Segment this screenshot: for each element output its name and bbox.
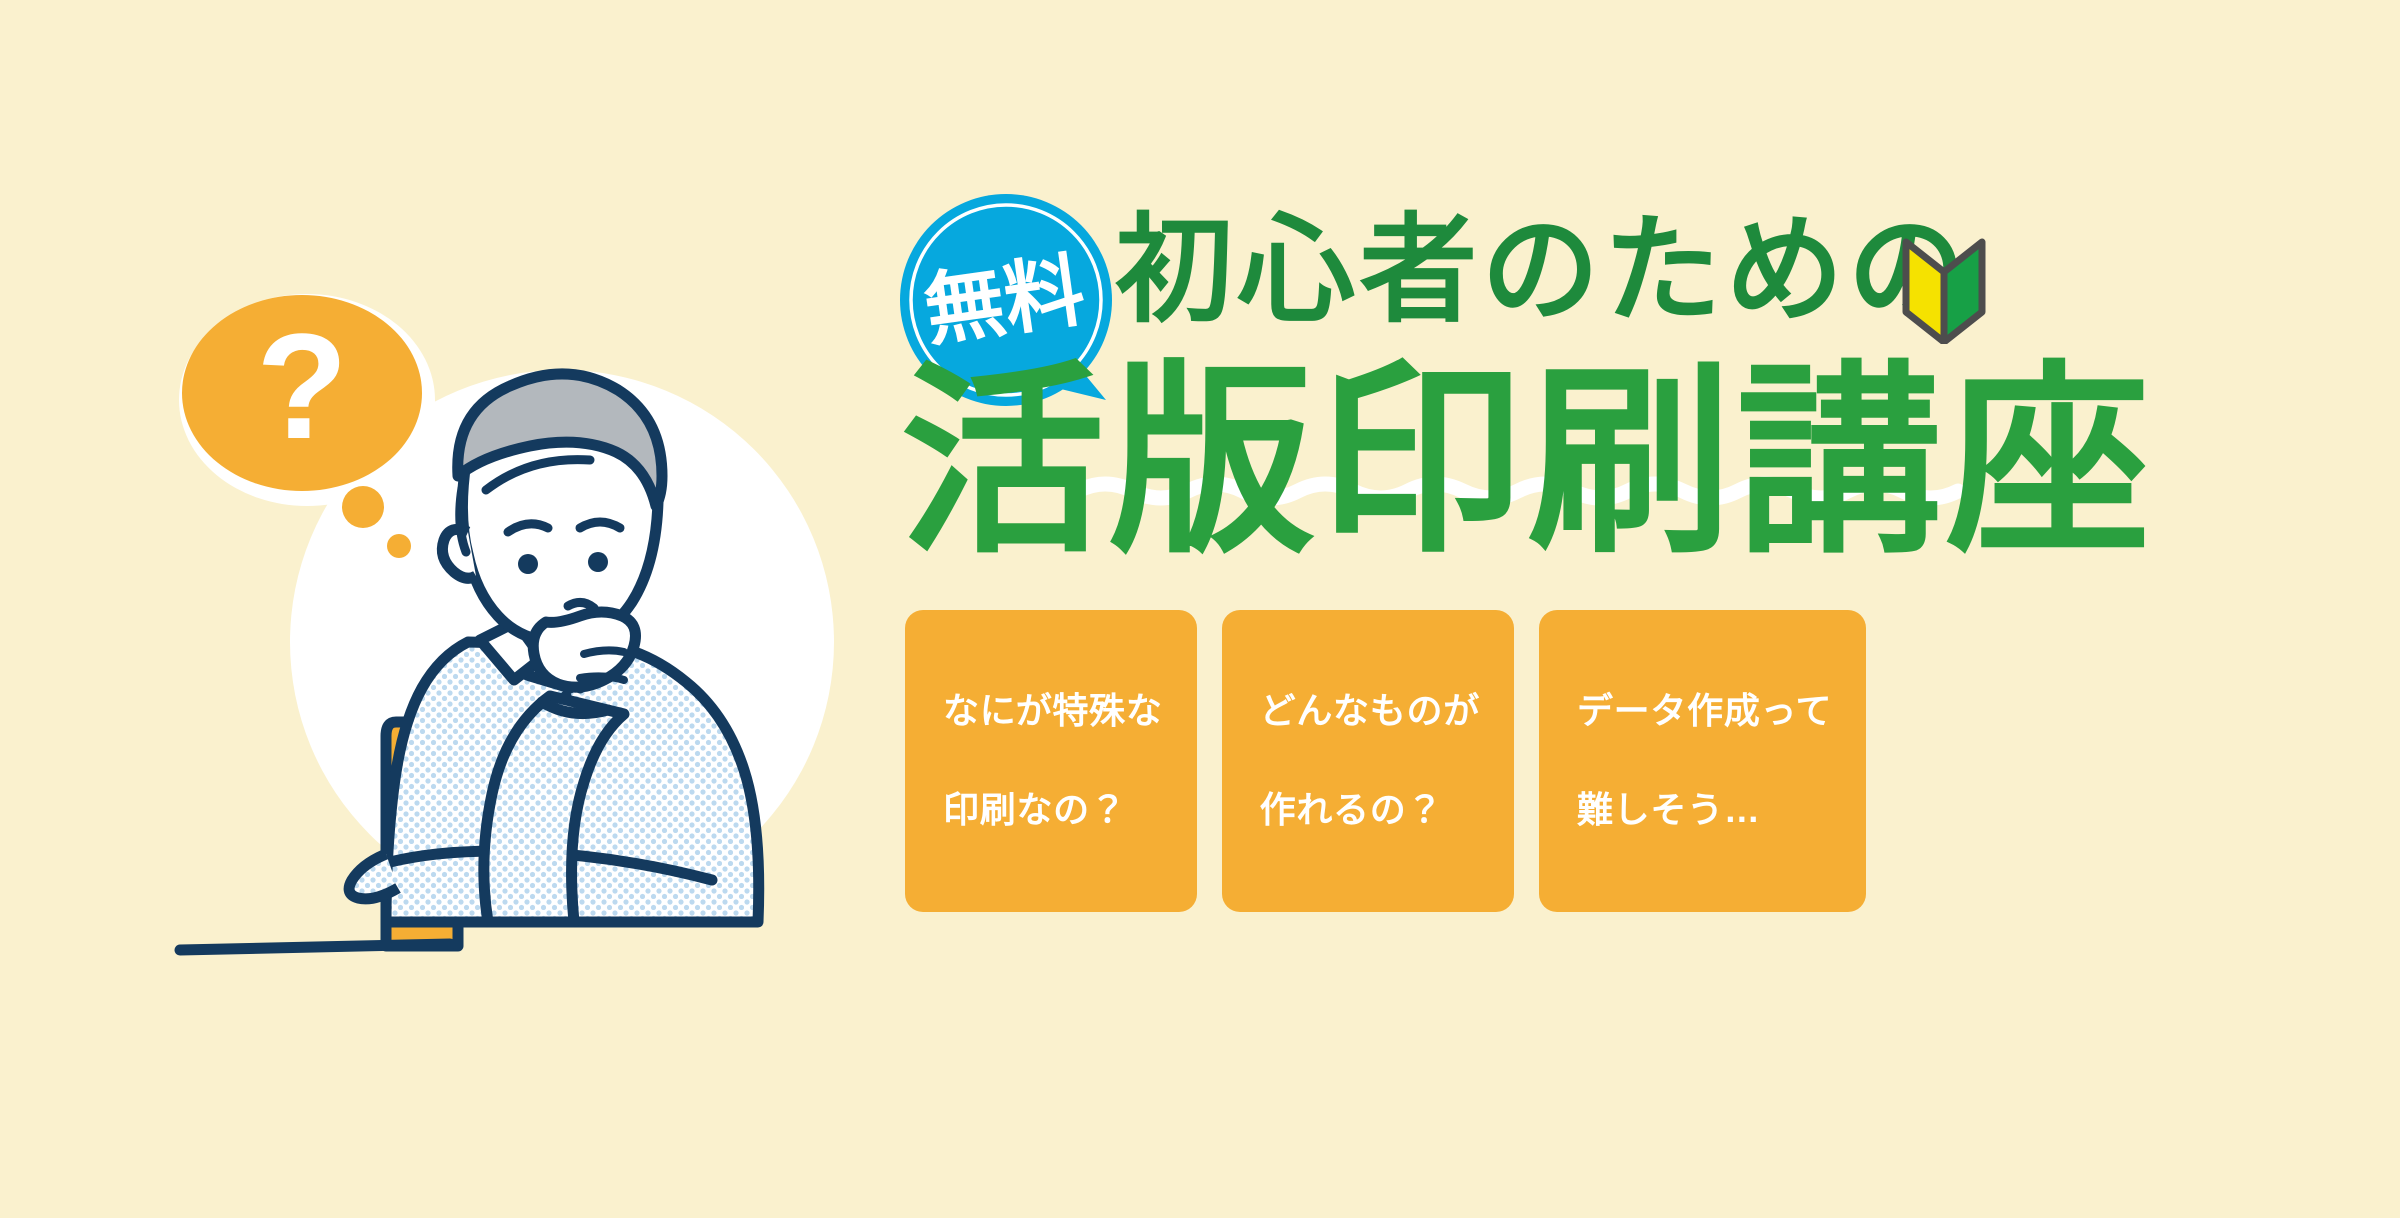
tag-3-line-2: 難しそう… [1577, 785, 1832, 835]
finger-line-2 [580, 676, 624, 680]
leaf-right-half [1944, 242, 1982, 342]
tag-2-line-2: 作れるの？ [1260, 785, 1480, 835]
left-eye [518, 554, 538, 574]
right-eye [588, 552, 608, 572]
leaf-left-half [1906, 242, 1944, 342]
tag-3-line-1: データ作成って [1577, 686, 1832, 736]
question-tag-2[interactable]: どんなものが 作れるの？ [1222, 610, 1514, 912]
subtitle-text: 初心者のための [1115, 212, 1970, 330]
page-title: 活版印刷講座 [900, 360, 2155, 565]
banner-content: 無料 初心者のための 活版印刷講座 [900, 180, 2320, 980]
question-tag-3[interactable]: データ作成って 難しそう… [1539, 610, 1866, 912]
tag-1-line-2: 印刷なの？ [943, 785, 1163, 835]
tag-2-line-1: どんなものが [1260, 686, 1480, 736]
thinking-man-illustration: ? [150, 250, 870, 970]
question-mark-glyph: ? [256, 302, 348, 470]
beginner-leaf-mark-icon [1900, 232, 1988, 344]
tag-1-line-1: なにが特殊な [943, 686, 1163, 736]
question-tag-list: なにが特殊な 印刷なの？ どんなものが 作れるの？ データ作成って 難しそう… [905, 610, 1866, 912]
promo-banner: ? [0, 0, 2400, 1218]
floor-line [180, 944, 450, 950]
question-tag-1[interactable]: なにが特殊な 印刷なの？ [905, 610, 1197, 912]
finger-line-1 [584, 650, 624, 654]
